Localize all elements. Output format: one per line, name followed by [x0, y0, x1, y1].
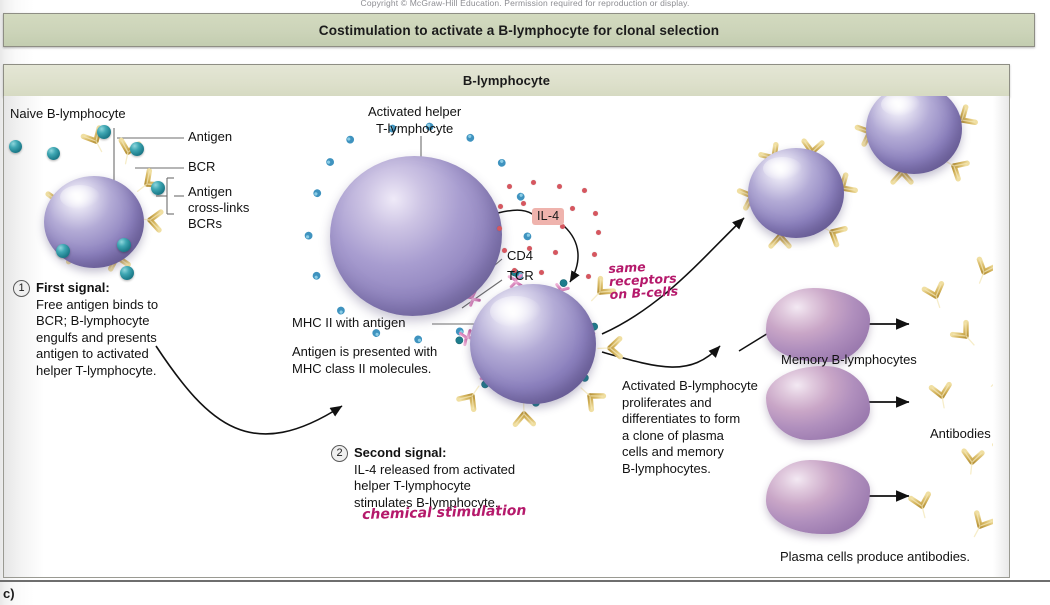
figure-part-letter: c) — [3, 586, 15, 601]
memory-b-lymphocyte-cell-1 — [748, 148, 844, 238]
free-antibodies — [911, 259, 1010, 541]
antigen-dot — [56, 244, 70, 258]
plasma-cell-1 — [766, 288, 870, 362]
antigen-dot — [9, 140, 22, 153]
il4-dot — [531, 180, 536, 185]
step-number-1: 1 — [13, 280, 30, 297]
antigen-dot — [151, 181, 165, 195]
bottom-divider — [0, 580, 1050, 582]
label-antigen: Antigen — [188, 129, 232, 146]
antigen-dot — [117, 238, 131, 252]
il4-dot — [586, 274, 591, 279]
figure-title-bar: Costimulation to activate a B-lymphocyte… — [3, 13, 1035, 47]
il4-dot — [497, 226, 502, 231]
il4-dot — [593, 211, 598, 216]
caption-plasma-cells: Plasma cells produce antibodies. — [780, 549, 970, 566]
antigen-dot — [130, 142, 144, 156]
il4-dot — [557, 184, 562, 189]
antibody-production-arrows — [866, 324, 909, 496]
plasma-cell-2 — [766, 366, 870, 440]
annotation-chemical-stimulation: chemical stimulation — [362, 505, 527, 522]
label-memory-b-lymphocytes: Memory B-lymphocytes — [781, 352, 917, 369]
il4-dot — [507, 184, 512, 189]
antigen-dot — [120, 266, 134, 280]
label-antibodies: Antibodies — [930, 426, 991, 443]
step-second-signal: 2 Second signal: IL-4 released from acti… — [331, 445, 591, 511]
il4-dot — [539, 270, 544, 275]
label-bcr: BCR — [188, 159, 215, 176]
caption-proliferation: Activated B-lymphocyte proliferates and … — [622, 378, 758, 477]
plasma-cell-3 — [766, 460, 870, 534]
activated-b-lymphocyte-cell — [470, 284, 596, 404]
label-tcr: TCR — [507, 268, 534, 285]
il4-dot — [521, 201, 526, 206]
label-cd4: CD4 — [507, 248, 533, 265]
panel-header-label: B-lymphocyte — [463, 73, 550, 88]
step-body-1: Free antigen binds to BCR; B-lymphocyte … — [36, 297, 158, 380]
il4-dot — [582, 188, 587, 193]
il4-dot — [592, 252, 597, 257]
label-antigen-cross-links: Antigen cross-links BCRs — [188, 184, 249, 232]
il4-dot — [553, 250, 558, 255]
diagram-canvas: Naive B-lymphocyte Antigen BCR Antigen c… — [3, 96, 1010, 578]
label-activated-helper-t: Activated helper T-lymphocyte — [368, 104, 461, 137]
label-mhc-ii-with-antigen: MHC II with antigen — [292, 315, 405, 332]
activated-helper-t-cell — [330, 156, 502, 316]
caption-mhc-class-ii: Antigen is presented with MHC class II m… — [292, 344, 437, 377]
step-title-2: Second signal: — [354, 445, 515, 462]
label-il4: IL-4 — [532, 208, 564, 225]
step-number-2: 2 — [331, 445, 348, 462]
il4-dot — [596, 230, 601, 235]
antigen-dot — [97, 125, 111, 139]
memory-b-lymphocyte-cell-2 — [866, 96, 962, 174]
antigen-dot — [47, 147, 60, 160]
step-first-signal: 1 First signal: Free antigen binds to BC… — [13, 280, 223, 379]
figure-title: Costimulation to activate a B-lymphocyte… — [319, 23, 719, 38]
label-naive-b-lymphocyte: Naive B-lymphocyte — [10, 106, 126, 123]
copyright-notice: Copyright © McGraw-Hill Education. Permi… — [0, 0, 1050, 8]
il4-dot — [570, 206, 575, 211]
figure-root: Copyright © McGraw-Hill Education. Permi… — [0, 0, 1050, 605]
panel-header-bar: B-lymphocyte — [3, 64, 1010, 97]
annotation-same-receptors: same receptors on B-cells — [608, 258, 678, 301]
step-title-1: First signal: — [36, 280, 158, 297]
il4-dot — [498, 204, 503, 209]
